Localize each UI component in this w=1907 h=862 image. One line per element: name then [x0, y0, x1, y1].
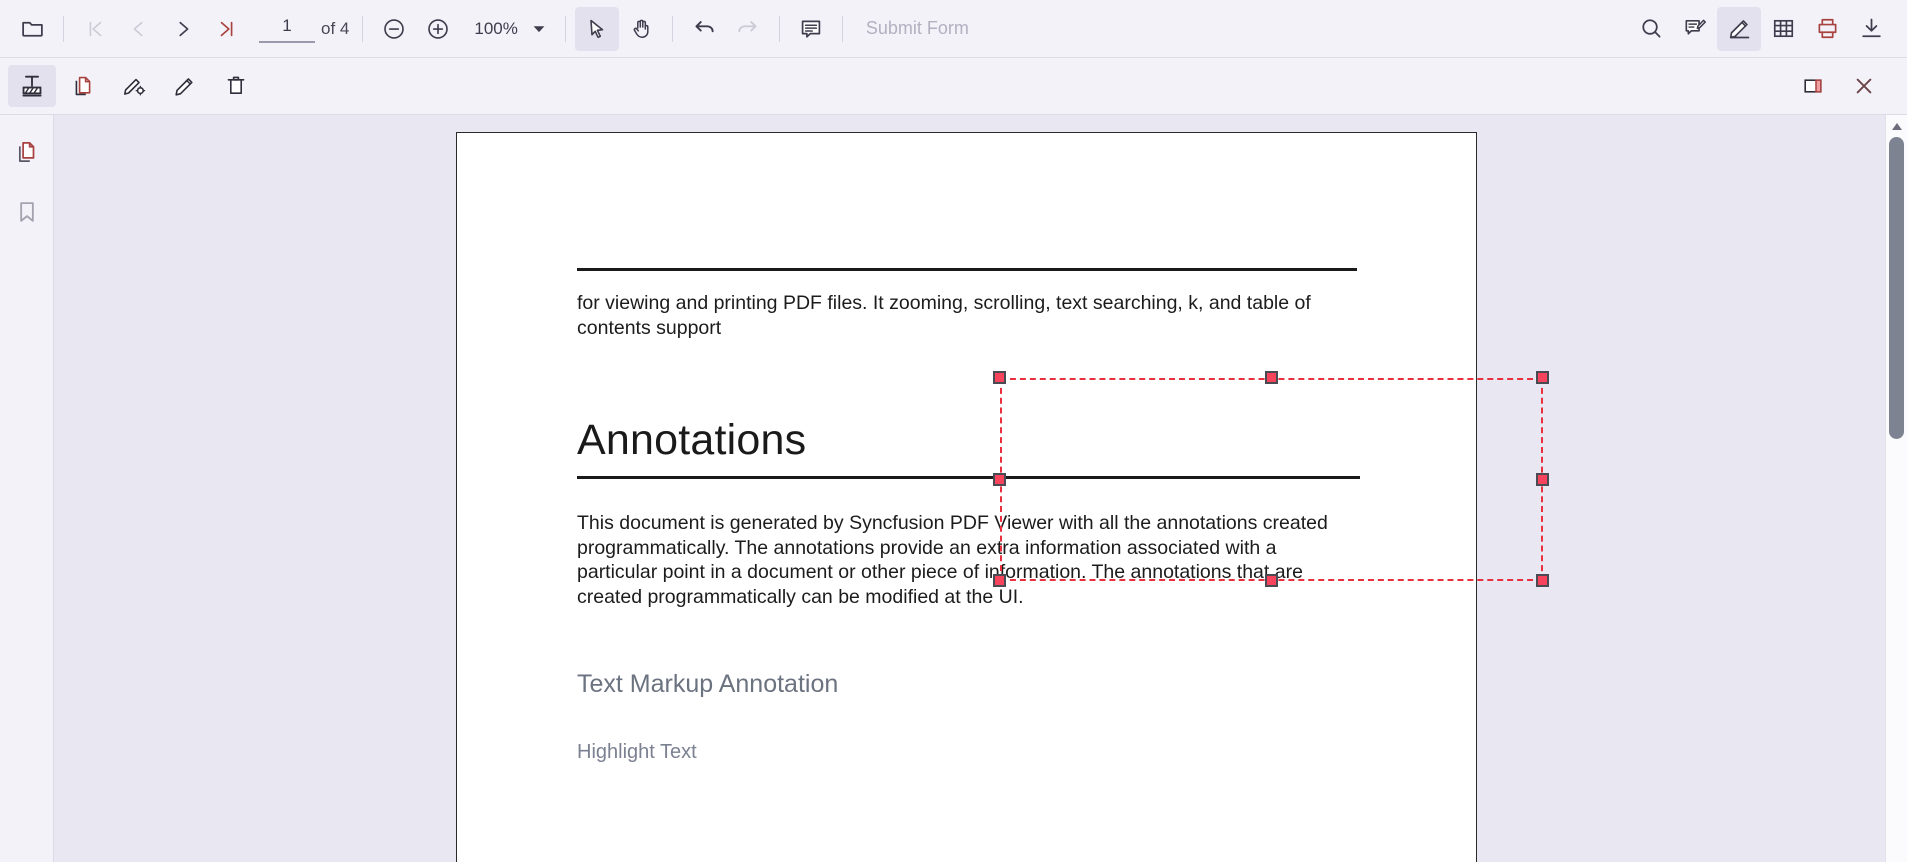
toolbar-separator	[672, 16, 673, 42]
document-subheading: Text Markup Annotation	[577, 670, 838, 699]
stamp-tool-button[interactable]	[8, 65, 56, 107]
toolbar-separator	[63, 16, 64, 42]
resize-handle-middle-right[interactable]	[1536, 473, 1549, 486]
side-panel-icon	[1801, 74, 1825, 98]
next-page-button[interactable]	[161, 7, 205, 51]
document-intro-text: for viewing and printing PDF files. It z…	[577, 291, 1367, 341]
copy-page-icon	[71, 74, 95, 98]
chevron-right-icon	[172, 18, 194, 40]
zoom-out-icon	[381, 16, 407, 42]
first-page-button[interactable]	[73, 7, 117, 51]
zoom-dropdown-button[interactable]	[522, 12, 556, 46]
printer-icon	[1815, 16, 1840, 41]
page-number-field[interactable]	[259, 14, 315, 43]
main-toolbar-left-group: of 4 100%	[0, 7, 969, 51]
trash-icon	[224, 74, 248, 98]
cursor-arrow-icon	[585, 17, 609, 41]
stamp-icon	[19, 73, 45, 99]
left-sidebar-rail	[0, 115, 54, 862]
folder-icon	[20, 16, 45, 41]
last-page-button[interactable]	[205, 7, 249, 51]
edit-annotations-button[interactable]	[1717, 7, 1761, 51]
pen-settings-icon	[122, 74, 146, 98]
last-page-icon	[216, 18, 238, 40]
search-button[interactable]	[1629, 7, 1673, 51]
resize-handle-top-right[interactable]	[1536, 371, 1549, 384]
first-page-icon	[84, 18, 106, 40]
toolbar-separator	[362, 16, 363, 42]
pages-icon	[14, 139, 40, 165]
chevron-left-icon	[128, 18, 150, 40]
resize-handle-middle-left[interactable]	[993, 473, 1006, 486]
download-icon	[1859, 16, 1884, 41]
undo-icon	[691, 16, 717, 42]
annotation-button[interactable]	[1673, 7, 1717, 51]
pdf-viewer-canvas[interactable]: for viewing and printing PDF files. It z…	[54, 115, 1889, 862]
resize-handle-bottom-left[interactable]	[993, 574, 1006, 587]
caret-up-icon	[1891, 122, 1903, 131]
annotation-toolbar-right-group	[1789, 65, 1907, 107]
annotation-properties-button[interactable]	[110, 65, 158, 107]
undo-button[interactable]	[682, 7, 726, 51]
redo-icon	[735, 16, 761, 42]
annotation-toolbar	[0, 58, 1907, 115]
comment-button[interactable]	[789, 7, 833, 51]
pan-tool-button[interactable]	[619, 7, 663, 51]
document-subsubheading: Highlight Text	[577, 741, 697, 764]
bookmark-icon	[14, 199, 40, 225]
pdf-page[interactable]: for viewing and printing PDF files. It z…	[456, 132, 1477, 862]
download-button[interactable]	[1849, 7, 1893, 51]
close-annotation-toolbar-button[interactable]	[1840, 65, 1888, 107]
toolbar-separator	[842, 16, 843, 42]
document-top-rule	[577, 268, 1357, 271]
hand-icon	[629, 17, 653, 41]
delete-annotation-button[interactable]	[212, 65, 260, 107]
form-designer-button[interactable]	[1761, 7, 1805, 51]
toolbar-separator	[565, 16, 566, 42]
sidebar-item-bookmarks[interactable]	[6, 191, 48, 233]
scroll-thumb[interactable]	[1889, 137, 1904, 439]
previous-page-button[interactable]	[117, 7, 161, 51]
select-tool-button[interactable]	[575, 7, 619, 51]
submit-form-button[interactable]: Submit Form	[866, 18, 969, 39]
main-toolbar-right-group	[1629, 7, 1907, 51]
chevron-down-icon	[530, 20, 548, 38]
search-icon	[1639, 16, 1664, 41]
resize-handle-top-center[interactable]	[1265, 371, 1278, 384]
toolbar-separator	[779, 16, 780, 42]
vertical-scrollbar[interactable]	[1885, 115, 1907, 862]
page-count-label: of 4	[321, 19, 349, 39]
duplicate-page-button[interactable]	[59, 65, 107, 107]
comment-icon	[799, 17, 823, 41]
print-button[interactable]	[1805, 7, 1849, 51]
sidebar-item-page-thumbnails[interactable]	[6, 131, 48, 173]
resize-handle-bottom-center[interactable]	[1265, 574, 1278, 587]
resize-handle-top-left[interactable]	[993, 371, 1006, 384]
edit-tool-button[interactable]	[161, 65, 209, 107]
annotation-tools-group	[0, 65, 263, 107]
comment-panel-toggle-button[interactable]	[1789, 65, 1837, 107]
pen-icon	[1727, 16, 1752, 41]
page-number-input[interactable]	[259, 14, 315, 41]
resize-handle-bottom-right[interactable]	[1536, 574, 1549, 587]
document-heading: Annotations	[577, 416, 806, 465]
square-annotation-border[interactable]	[1000, 378, 1543, 581]
zoom-out-button[interactable]	[372, 7, 416, 51]
main-toolbar: of 4 100%	[0, 0, 1907, 58]
pencil-icon	[173, 74, 197, 98]
comment-edit-icon	[1683, 16, 1708, 41]
zoom-in-button[interactable]	[416, 7, 460, 51]
table-grid-icon	[1771, 16, 1796, 41]
zoom-in-icon	[425, 16, 451, 42]
close-icon	[1852, 74, 1876, 98]
selected-annotation[interactable]	[1000, 378, 1543, 581]
zoom-level-value: 100%	[474, 19, 517, 39]
open-file-button[interactable]	[10, 7, 54, 51]
redo-button[interactable]	[726, 7, 770, 51]
scroll-up-button[interactable]	[1886, 118, 1907, 134]
page-number-underline	[259, 41, 315, 43]
